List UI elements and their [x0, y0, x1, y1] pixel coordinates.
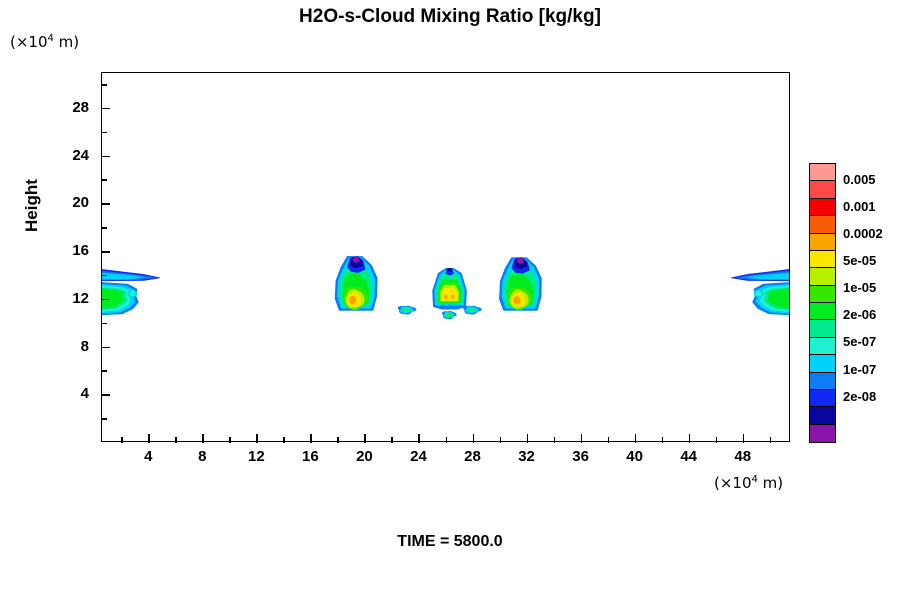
- x-tick-label: 8: [182, 448, 222, 465]
- colorbar-tick-label: 5e-07: [843, 334, 876, 349]
- figure-canvas: H2O-s-Cloud Mixing Ratio [kg/kg] (×104 m…: [0, 0, 900, 600]
- feature-right-edge-cloud: [731, 269, 789, 314]
- feature-detached-puff-c: [463, 306, 481, 314]
- y-minor-tick: [101, 227, 107, 229]
- x-tick-label: 20: [344, 448, 384, 465]
- y-minor-tick: [101, 132, 107, 134]
- colorbar-swatch[interactable]: [810, 425, 835, 442]
- y-unit-prefix: (×10: [10, 33, 48, 51]
- contour-band: [129, 291, 135, 296]
- contour-band: [442, 288, 457, 300]
- x-axis-unit-label: (×104 m): [714, 474, 783, 492]
- x-minor-tick: [283, 437, 285, 443]
- y-axis-unit-label: (×104 m): [10, 33, 79, 51]
- x-tick-label: 4: [128, 448, 168, 465]
- x-major-tick: [148, 434, 150, 443]
- x-tick-label: 16: [290, 448, 330, 465]
- contour-band: [451, 295, 454, 299]
- x-minor-tick: [121, 437, 123, 443]
- colorbar-tick-label: 2e-06: [843, 307, 876, 322]
- x-major-tick: [310, 434, 312, 443]
- y-tick-label: 20: [49, 194, 89, 211]
- feature-cloud-2: [335, 256, 377, 310]
- x-major-tick: [473, 434, 475, 443]
- colorbar-tick-label: 2e-08: [843, 389, 876, 404]
- x-tick-label: 32: [507, 448, 547, 465]
- feature-cloud-3: [433, 268, 467, 309]
- colorbar-swatch[interactable]: [810, 199, 835, 216]
- x-tick-label: 40: [615, 448, 655, 465]
- x-tick-label: 12: [236, 448, 276, 465]
- x-major-tick: [527, 434, 529, 443]
- time-annotation: TIME = 5800.0: [0, 533, 900, 551]
- x-major-tick: [202, 434, 204, 443]
- colorbar-swatch[interactable]: [810, 373, 835, 390]
- y-tick-label: 4: [49, 385, 89, 402]
- colorbar-tick-label: 5e-05: [843, 253, 876, 268]
- y-tick-label: 28: [49, 99, 89, 116]
- contour-band: [349, 296, 355, 304]
- y-tick-label: 12: [49, 290, 89, 307]
- x-minor-tick: [716, 437, 718, 443]
- colorbar-tick-label: 0.005: [843, 172, 876, 187]
- colorbar-swatch[interactable]: [810, 320, 835, 337]
- colorbar-swatch[interactable]: [810, 164, 835, 181]
- x-minor-tick: [662, 437, 664, 443]
- contour-band: [445, 295, 448, 299]
- y-major-tick: [101, 203, 110, 205]
- feature-left-edge-cloud: [102, 269, 160, 314]
- contour-band: [447, 268, 452, 271]
- x-minor-tick: [554, 437, 556, 443]
- x-major-tick: [418, 434, 420, 443]
- contour-plot-canvas: [102, 73, 789, 441]
- feature-detached-puff-b: [442, 311, 456, 319]
- colorbar-swatch[interactable]: [810, 390, 835, 407]
- y-major-tick: [101, 156, 110, 158]
- x-tick-label: 48: [723, 448, 763, 465]
- x-unit-suffix: m): [758, 474, 783, 492]
- colorbar-swatch[interactable]: [810, 303, 835, 320]
- y-major-tick: [101, 394, 110, 396]
- y-minor-tick: [101, 323, 107, 325]
- colorbar-swatch[interactable]: [810, 234, 835, 251]
- x-major-tick: [256, 434, 258, 443]
- colorbar-tick-label: 0.0002: [843, 226, 883, 241]
- x-major-tick: [581, 434, 583, 443]
- x-minor-tick: [500, 437, 502, 443]
- colorbar-tick-label: 0.001: [843, 199, 876, 214]
- colorbar-swatch[interactable]: [810, 216, 835, 233]
- contour-band: [447, 314, 451, 316]
- colorbar[interactable]: [809, 163, 836, 443]
- contour-band: [514, 296, 520, 304]
- y-tick-label: 8: [49, 338, 89, 355]
- colorbar-swatch[interactable]: [810, 355, 835, 372]
- x-minor-tick: [229, 437, 231, 443]
- x-major-tick: [364, 434, 366, 443]
- colorbar-tick-label: 1e-07: [843, 362, 876, 377]
- x-minor-tick: [608, 437, 610, 443]
- y-axis-title: Height: [22, 179, 42, 232]
- colorbar-swatch[interactable]: [810, 268, 835, 285]
- x-major-tick: [743, 434, 745, 443]
- page-title: H2O-s-Cloud Mixing Ratio [kg/kg]: [0, 6, 900, 28]
- plot-area: [101, 72, 790, 442]
- y-minor-tick: [101, 275, 107, 277]
- x-minor-tick: [770, 437, 772, 443]
- colorbar-swatch[interactable]: [810, 338, 835, 355]
- colorbar-tick-label: 1e-05: [843, 280, 876, 295]
- feature-cloud-4: [499, 258, 541, 311]
- y-major-tick: [101, 251, 110, 253]
- y-major-tick: [101, 108, 110, 110]
- y-tick-label: 16: [49, 242, 89, 259]
- x-tick-label: 28: [453, 448, 493, 465]
- x-major-tick: [689, 434, 691, 443]
- colorbar-swatch[interactable]: [810, 286, 835, 303]
- y-unit-suffix: m): [54, 33, 79, 51]
- y-minor-tick: [101, 418, 107, 420]
- y-minor-tick: [101, 179, 107, 181]
- colorbar-swatch[interactable]: [810, 407, 835, 424]
- x-tick-label: 44: [669, 448, 709, 465]
- colorbar-swatch[interactable]: [810, 181, 835, 198]
- y-minor-tick: [101, 84, 107, 86]
- contour-band: [756, 291, 762, 296]
- x-unit-prefix: (×10: [714, 474, 752, 492]
- colorbar-swatch[interactable]: [810, 251, 835, 268]
- x-minor-tick: [337, 437, 339, 443]
- feature-detached-puff-a: [398, 306, 416, 314]
- x-major-tick: [635, 434, 637, 443]
- y-major-tick: [101, 347, 110, 349]
- y-tick-label: 24: [49, 147, 89, 164]
- x-tick-label: 36: [561, 448, 601, 465]
- y-major-tick: [101, 299, 110, 301]
- y-minor-tick: [101, 370, 107, 372]
- x-tick-label: 24: [398, 448, 438, 465]
- x-minor-tick: [175, 437, 177, 443]
- x-minor-tick: [446, 437, 448, 443]
- x-minor-tick: [391, 437, 393, 443]
